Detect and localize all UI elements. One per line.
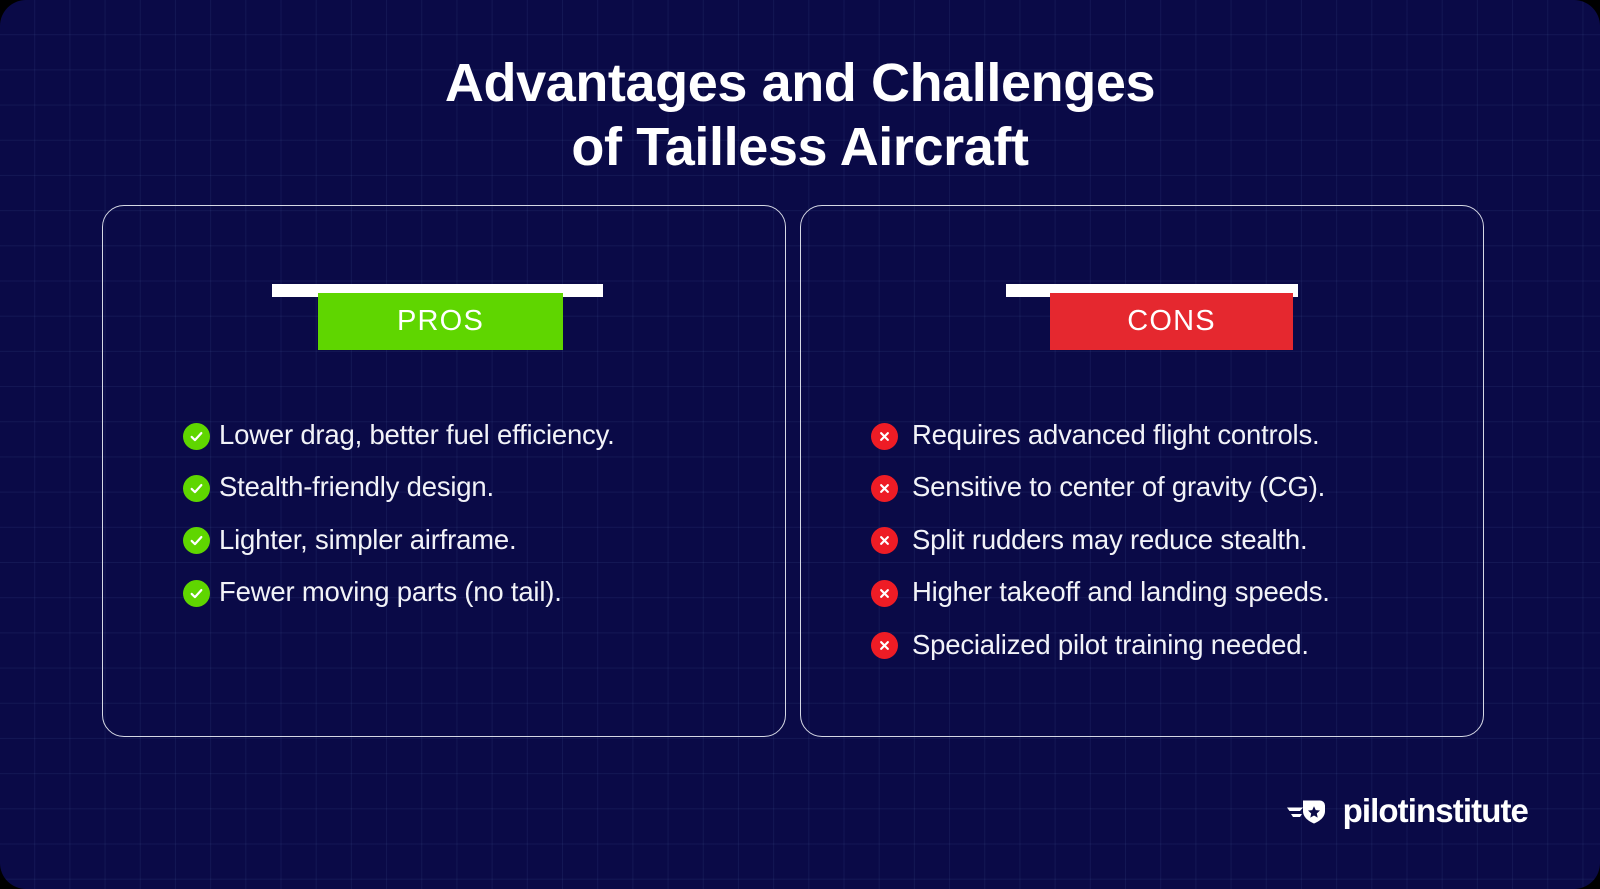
cross-circle-icon xyxy=(871,580,898,607)
cons-list: Requires advanced flight controls. Sensi… xyxy=(801,418,1483,680)
list-item: Requires advanced flight controls. xyxy=(871,418,1483,452)
brand-logo: pilotinstitute xyxy=(1286,793,1528,827)
check-circle-icon xyxy=(183,423,210,450)
list-item: Split rudders may reduce stealth. xyxy=(871,523,1483,557)
list-item: Stealth-friendly design. xyxy=(183,470,785,504)
list-item: Lower drag, better fuel efficiency. xyxy=(183,418,785,452)
list-item-label: Requires advanced flight controls. xyxy=(912,418,1319,452)
winged-star-shield-icon xyxy=(1286,793,1330,827)
list-item: Sensitive to center of gravity (CG). xyxy=(871,470,1483,504)
pros-badge-header: PROS xyxy=(103,284,785,376)
pros-list: Lower drag, better fuel efficiency. Stea… xyxy=(103,418,785,628)
cons-badge: CONS xyxy=(1050,293,1293,350)
cross-circle-icon xyxy=(871,527,898,554)
list-item-label: Sensitive to center of gravity (CG). xyxy=(912,470,1325,504)
list-item: Higher takeoff and landing speeds. xyxy=(871,575,1483,609)
list-item: Fewer moving parts (no tail). xyxy=(183,575,785,609)
list-item: Specialized pilot training needed. xyxy=(871,628,1483,662)
list-item-label: Split rudders may reduce stealth. xyxy=(912,523,1307,557)
pros-card: PROS Lower drag, better fuel efficiency.… xyxy=(102,205,786,737)
cons-badge-header: CONS xyxy=(801,284,1483,376)
check-circle-icon xyxy=(183,580,210,607)
cross-circle-icon xyxy=(871,423,898,450)
check-circle-icon xyxy=(183,527,210,554)
list-item: Lighter, simpler airframe. xyxy=(183,523,785,557)
check-circle-icon xyxy=(183,475,210,502)
list-item-label: Lighter, simpler airframe. xyxy=(219,523,516,557)
list-item-label: Specialized pilot training needed. xyxy=(912,628,1309,662)
list-item-label: Fewer moving parts (no tail). xyxy=(219,575,562,609)
cross-circle-icon xyxy=(871,475,898,502)
list-item-label: Stealth-friendly design. xyxy=(219,470,494,504)
brand-wordmark: pilotinstitute xyxy=(1343,794,1528,827)
page-title: Advantages and Challenges of Tailless Ai… xyxy=(0,52,1600,179)
cross-circle-icon xyxy=(871,632,898,659)
pros-badge: PROS xyxy=(318,293,563,350)
list-item-label: Lower drag, better fuel efficiency. xyxy=(219,418,615,452)
infographic-canvas: Advantages and Challenges of Tailless Ai… xyxy=(0,0,1600,889)
cons-card: CONS Requires advanced flight controls. … xyxy=(800,205,1484,737)
list-item-label: Higher takeoff and landing speeds. xyxy=(912,575,1330,609)
